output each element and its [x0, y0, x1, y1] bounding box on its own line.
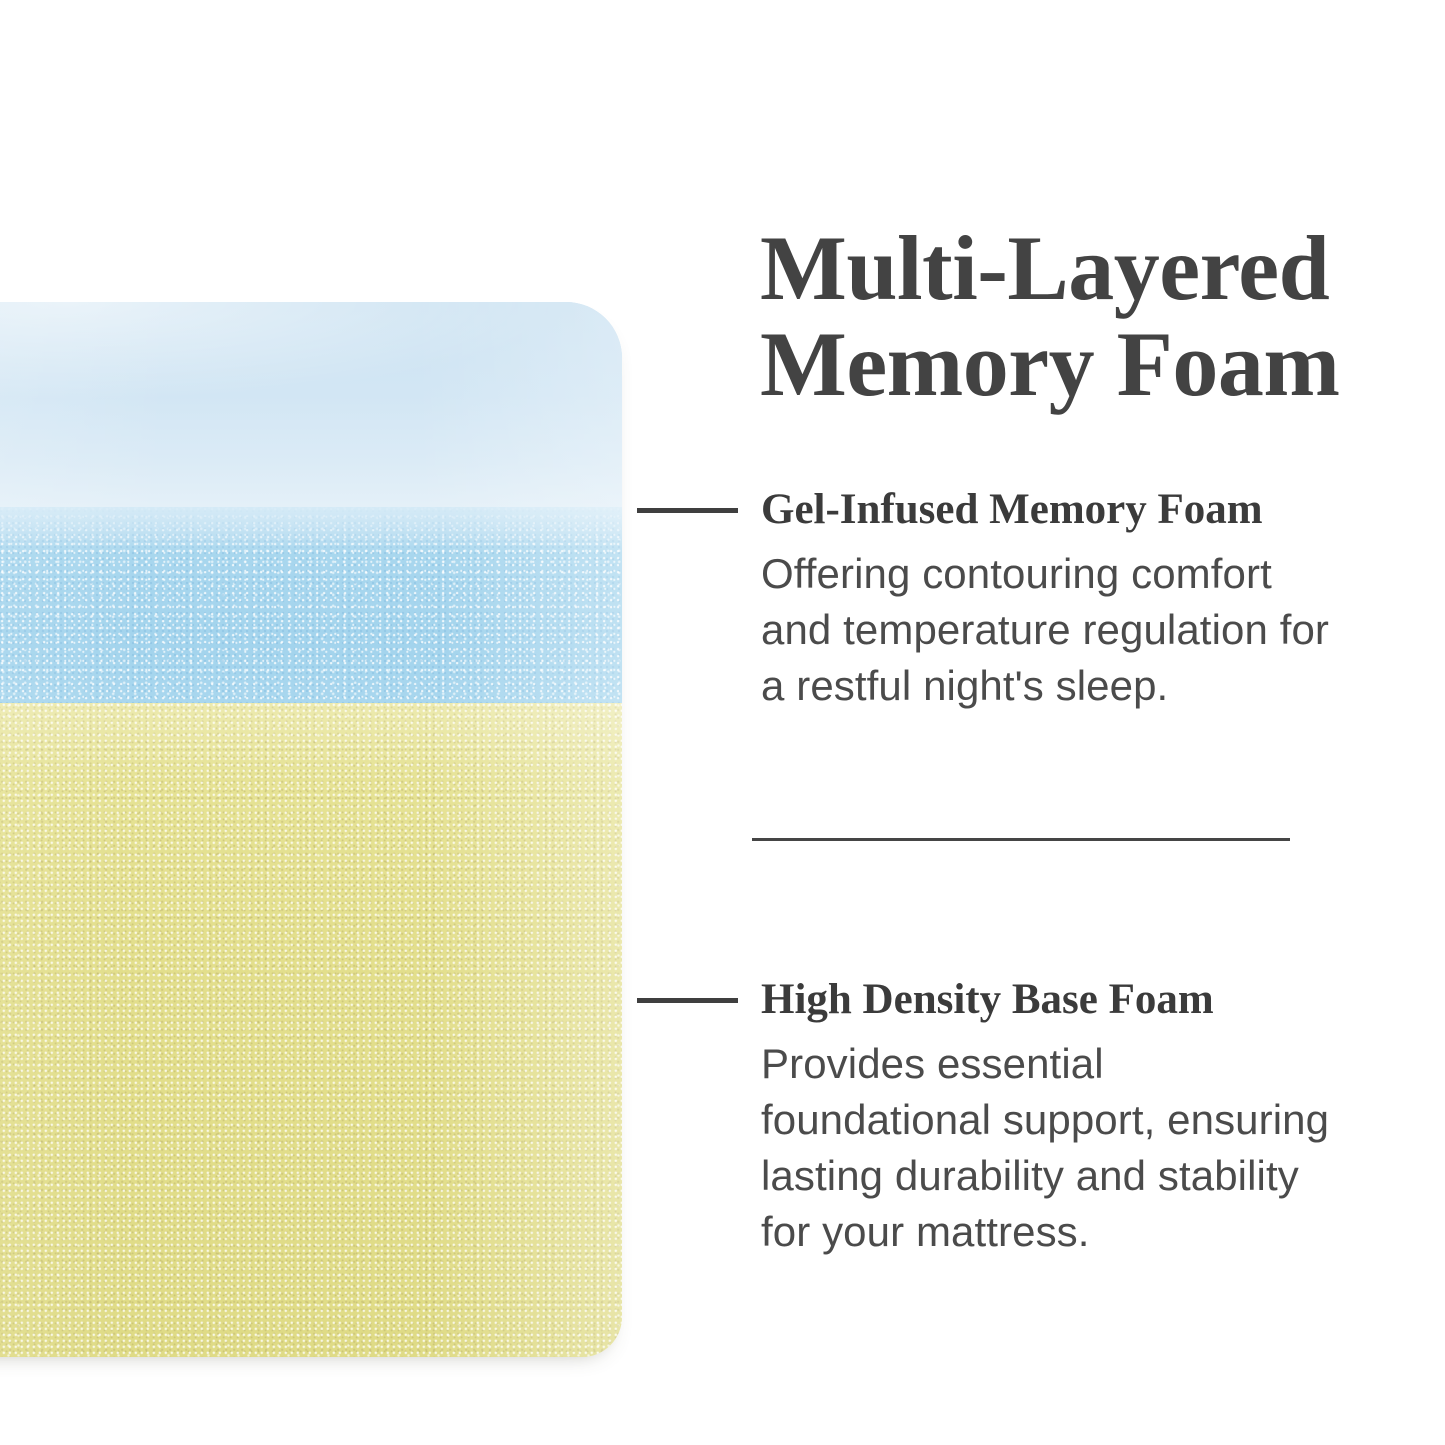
page-title: Multi-LayeredMemory Foam: [760, 220, 1400, 412]
dash-marker-icon: [637, 508, 738, 513]
foam-layer-high-density-base-foam: [0, 703, 622, 1357]
memory-foam-block-image: [0, 302, 622, 1357]
infographic-canvas: Multi-LayeredMemory Foam Gel-Infused Mem…: [0, 0, 1445, 1445]
foam-layer-gel-infused-memory-foam: [0, 507, 622, 703]
feature-description: Provides essential foundational support,…: [761, 1036, 1337, 1260]
feature-title: Gel-Infused Memory Foam: [761, 487, 1263, 533]
feature-title: High Density Base Foam: [761, 977, 1214, 1023]
page-title-line-2: Memory Foam: [760, 313, 1339, 415]
feature-heading-row: Gel-Infused Memory Foam: [637, 487, 1337, 533]
feature-heading-row: High Density Base Foam: [637, 977, 1337, 1023]
dash-marker-icon: [637, 998, 738, 1003]
page-title-line-1: Multi-Layered: [760, 217, 1329, 319]
section-divider: [752, 838, 1290, 841]
foam-layer-top-surface: [0, 302, 622, 507]
feature-block-gel-infused-memory-foam: Gel-Infused Memory Foam Offering contour…: [637, 487, 1337, 756]
feature-block-high-density-base-foam: High Density Base Foam Provides essentia…: [637, 977, 1337, 1302]
feature-description: Offering contouring comfort and temperat…: [761, 546, 1337, 714]
